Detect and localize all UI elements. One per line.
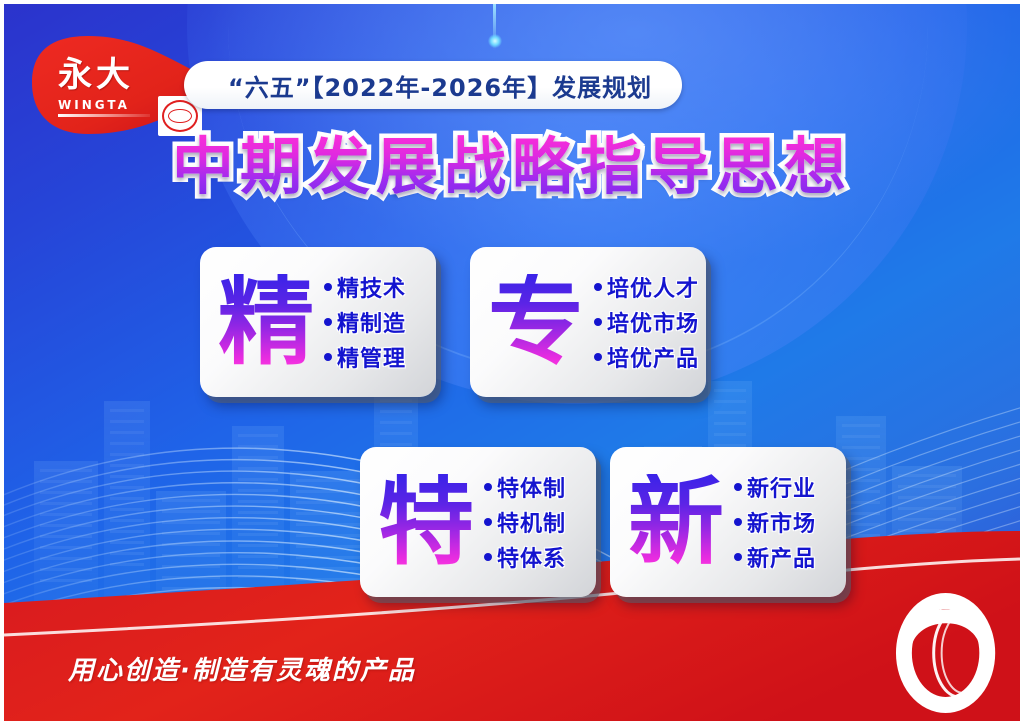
- list-item: 培优产品: [594, 341, 699, 373]
- card-item-list: 培优人才 培优市场 培优产品: [592, 271, 699, 373]
- list-item-label: 特机制: [497, 506, 566, 538]
- bullet-dot-icon: [484, 483, 492, 491]
- logo-text-en: WINGTA: [58, 98, 130, 112]
- strategy-card[interactable]: 特 特体制 特机制 特体系: [360, 447, 596, 597]
- list-item-label: 培优市场: [607, 306, 699, 338]
- bullet-dot-icon: [484, 518, 492, 526]
- list-item: 精制造: [324, 306, 428, 338]
- list-item: 新行业: [734, 471, 838, 503]
- light-spark-icon: [488, 34, 502, 48]
- page-title: 中期发展战略指导思想: [4, 136, 1020, 198]
- list-item-label: 培优产品: [607, 341, 699, 373]
- card-item-list: 精技术 精制造 精管理: [322, 271, 428, 373]
- strategy-card[interactable]: 专 培优人才 培优市场 培优产品: [470, 247, 706, 397]
- list-item-label: 新产品: [747, 541, 816, 573]
- list-item: 精技术: [324, 271, 428, 303]
- bullet-dot-icon: [594, 283, 602, 291]
- bullet-dot-icon: [324, 353, 332, 361]
- list-item-label: 精管理: [337, 341, 406, 373]
- strategy-card[interactable]: 精 精技术 精制造 精管理: [200, 247, 436, 397]
- header-banner-text: “六五”【2022年-2026年】发展规划: [228, 68, 652, 103]
- logo-underline: [58, 114, 150, 117]
- bullet-dot-icon: [594, 318, 602, 326]
- list-item: 培优市场: [594, 306, 699, 338]
- list-item-label: 精制造: [337, 306, 406, 338]
- list-item: 特机制: [484, 506, 588, 538]
- card-item-list: 特体制 特机制 特体系: [482, 471, 588, 573]
- footer-slogan: 用心创造·制造有灵魂的产品: [68, 650, 416, 687]
- list-item-label: 精技术: [337, 271, 406, 303]
- list-item: 新产品: [734, 541, 838, 573]
- list-item-label: 培优人才: [607, 271, 699, 303]
- card-keyword: 专: [480, 274, 592, 370]
- bullet-dot-icon: [734, 518, 742, 526]
- list-item: 特体系: [484, 541, 588, 573]
- poster-canvas: 用心创造·制造有灵魂的产品 永大 WINGTA ® “六五”【2022年-202…: [0, 0, 1024, 725]
- list-item: 特体制: [484, 471, 588, 503]
- strategy-card[interactable]: 新 新行业 新市场 新产品: [610, 447, 846, 597]
- list-item: 新市场: [734, 506, 838, 538]
- bullet-dot-icon: [734, 553, 742, 561]
- list-item-label: 特体制: [497, 471, 566, 503]
- list-item-label: 新行业: [747, 471, 816, 503]
- bullet-dot-icon: [324, 283, 332, 291]
- header-banner-pill: “六五”【2022年-2026年】发展规划: [184, 61, 682, 109]
- list-item: 精管理: [324, 341, 428, 373]
- card-keyword: 新: [620, 474, 732, 570]
- logo-text-cn: 永大: [58, 58, 134, 92]
- list-item-label: 新市场: [747, 506, 816, 538]
- bullet-dot-icon: [734, 483, 742, 491]
- bullet-dot-icon: [484, 553, 492, 561]
- card-keyword: 特: [370, 474, 482, 570]
- bullet-dot-icon: [324, 318, 332, 326]
- list-item-label: 特体系: [497, 541, 566, 573]
- list-item: 培优人才: [594, 271, 699, 303]
- card-keyword: 精: [210, 274, 322, 370]
- page-title-text: 中期发展战略指导思想: [172, 130, 852, 203]
- bullet-dot-icon: [594, 353, 602, 361]
- card-item-list: 新行业 新市场 新产品: [732, 471, 838, 573]
